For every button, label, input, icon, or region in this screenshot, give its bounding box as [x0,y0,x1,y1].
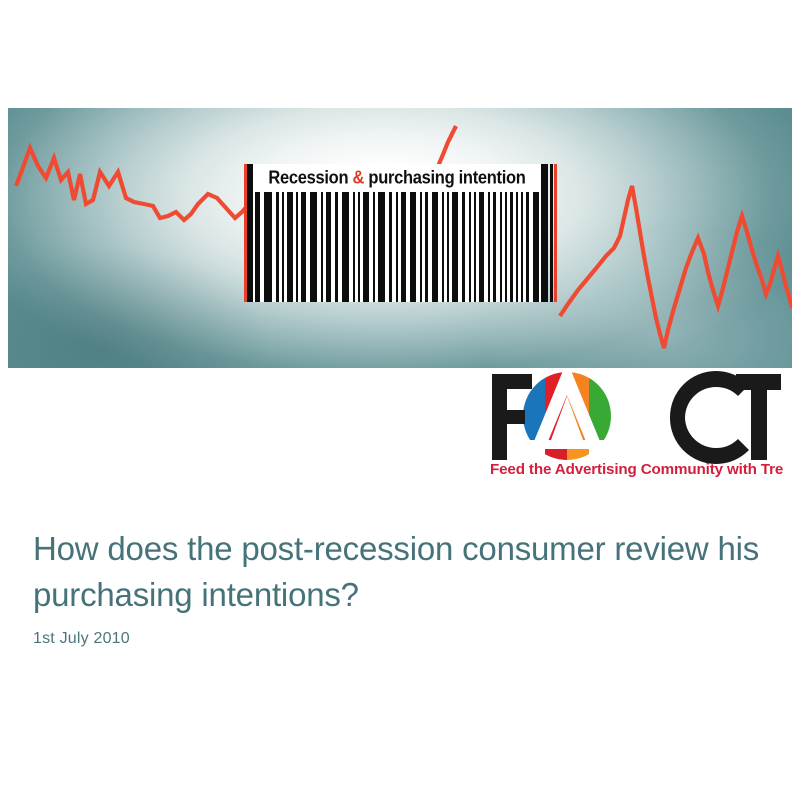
barcode-right-guard-bar-outer [541,164,548,302]
barcode-label-text: Recession & purchasing intention [268,167,525,188]
barcode-label-prefix: Recession [268,167,352,187]
fact-logo-emblem-a-icon [523,372,611,463]
page-title: How does the post-recession consumer rev… [33,526,763,618]
slide-canvas: Recession & purchasing intention [0,0,800,800]
barcode-right-red-edge [554,164,557,302]
barcode-label-suffix: purchasing intention [364,167,525,187]
barcode-graphic: Recession & purchasing intention [244,164,557,302]
barcode-right-guard-bar-inner [550,164,553,302]
barcode-label-ampersand: & [353,167,365,187]
fact-logo: Feed the Advertising Community with Tren… [488,370,784,478]
slide-date: 1st July 2010 [33,630,130,648]
barcode-bars [253,192,541,302]
trend-line-right [560,186,792,348]
fact-logo-svg: Feed the Advertising Community with Tren… [488,370,784,478]
fact-logo-tagline: Feed the Advertising Community with Tren… [490,461,784,478]
barcode-bars-svg [253,192,541,302]
recession-banner-image: Recession & purchasing intention [8,108,792,368]
barcode-label-strip: Recession & purchasing intention [253,164,541,192]
